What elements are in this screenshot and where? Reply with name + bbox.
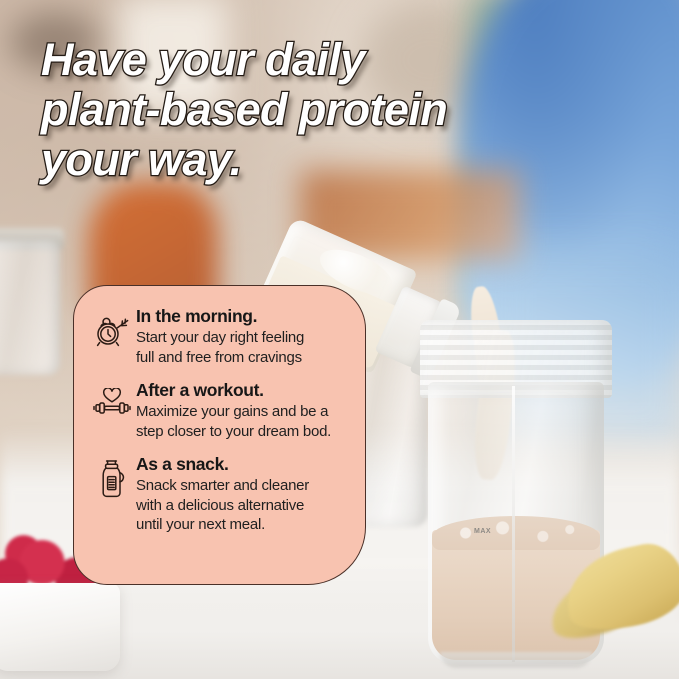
dumbbell-heart-icon	[90, 380, 134, 426]
alarm-clock-icon	[90, 306, 134, 352]
benefit-title: After a workout.	[136, 380, 347, 401]
headline: Have your daily plant-based protein your…	[41, 35, 601, 185]
blender-cup-base	[440, 652, 592, 668]
benefit-item-workout: After a workout. Maximize your gains and…	[90, 380, 347, 441]
benefit-text-morning: In the morning. Start your day right fee…	[134, 306, 347, 367]
shaker-bottle-icon	[90, 454, 134, 500]
benefit-title: In the morning.	[136, 306, 347, 327]
smoothie-foam	[432, 516, 600, 550]
benefits-card: In the morning. Start your day right fee…	[73, 285, 366, 585]
benefit-description: Maximize your gains and be a step closer…	[136, 402, 347, 441]
benefit-description: Start your day right feeling full and fr…	[136, 328, 347, 367]
benefit-description: Snack smarter and cleaner with a delicio…	[136, 476, 347, 535]
benefit-item-snack: As a snack. Snack smarter and cleaner wi…	[90, 454, 347, 535]
max-fill-label: MAX	[474, 528, 491, 535]
benefit-text-workout: After a workout. Maximize your gains and…	[134, 380, 347, 441]
promo-image: MAX Have your daily plant-based protein …	[0, 0, 679, 679]
benefit-item-morning: In the morning. Start your day right fee…	[90, 306, 347, 367]
glass-jar	[0, 240, 60, 375]
white-bowl	[0, 583, 120, 671]
blender-cup-seam	[512, 386, 515, 662]
benefit-text-snack: As a snack. Snack smarter and cleaner wi…	[134, 454, 347, 535]
benefit-title: As a snack.	[136, 454, 347, 475]
